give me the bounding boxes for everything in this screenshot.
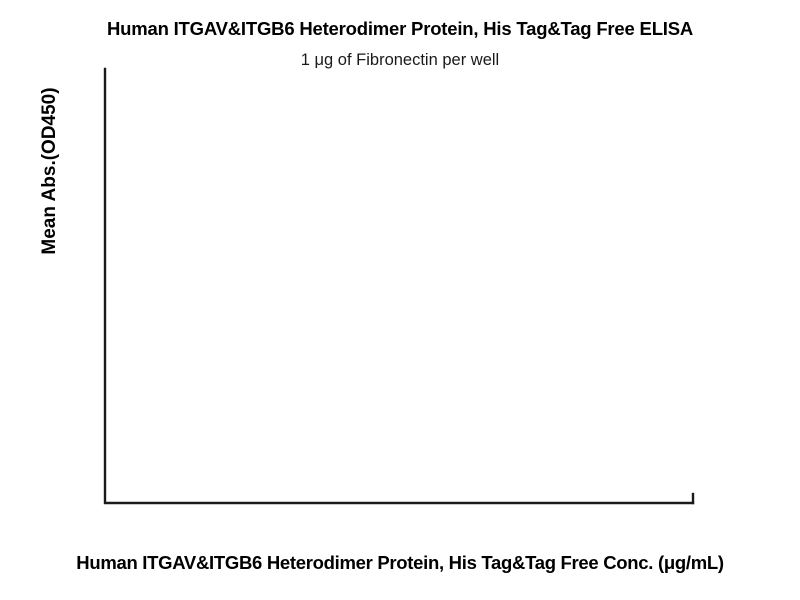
elisa-chart-figure: Human ITGAV&ITGB6 Heterodimer Protein, H… bbox=[0, 0, 800, 600]
plot-area bbox=[0, 0, 800, 600]
axis-lines bbox=[105, 69, 693, 503]
